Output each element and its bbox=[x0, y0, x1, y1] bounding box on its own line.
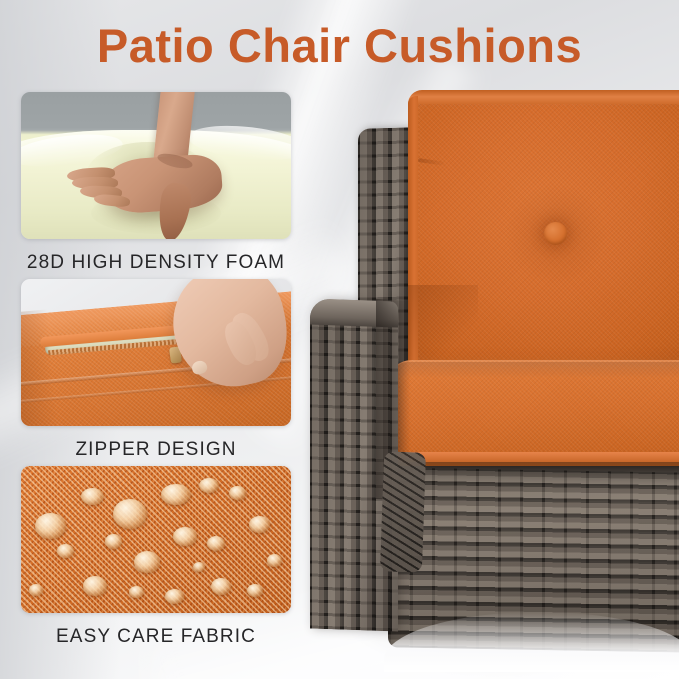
water-droplet bbox=[211, 578, 231, 595]
water-droplet bbox=[207, 536, 225, 551]
water-droplet bbox=[229, 486, 246, 500]
product-infographic: Patio Chair Cushions 28D HIGH DENSITY FO… bbox=[0, 0, 679, 679]
water-droplet bbox=[267, 554, 282, 567]
feature-panel-zipper-design: ZIPPER DESIGN bbox=[21, 279, 291, 461]
back-cushion-piping bbox=[408, 90, 679, 104]
feature-caption: ZIPPER DESIGN bbox=[21, 439, 291, 461]
water-droplet bbox=[35, 513, 66, 539]
wicker-corner-knot bbox=[380, 451, 426, 572]
water-droplet bbox=[161, 484, 191, 505]
water-droplet bbox=[105, 534, 122, 549]
water-droplet bbox=[134, 551, 160, 573]
water-droplet bbox=[193, 562, 205, 572]
feature-image-high-density-foam bbox=[21, 92, 291, 239]
water-droplet bbox=[173, 527, 197, 546]
cushion-shadow bbox=[408, 285, 478, 365]
water-droplet bbox=[57, 544, 74, 558]
water-droplet bbox=[129, 586, 144, 598]
water-droplet bbox=[81, 488, 104, 505]
feature-caption: 28D HIGH DENSITY FOAM bbox=[21, 252, 291, 274]
water-droplet bbox=[29, 584, 43, 596]
water-droplet bbox=[113, 499, 147, 529]
feature-caption: EASY CARE FABRIC bbox=[21, 626, 291, 648]
tufted-button bbox=[544, 222, 567, 245]
feature-image-easy-care-fabric bbox=[21, 466, 291, 613]
product-photo-chair bbox=[300, 0, 679, 679]
water-droplet bbox=[249, 516, 270, 533]
water-droplet bbox=[83, 576, 107, 596]
water-droplet bbox=[199, 478, 219, 493]
feature-image-zipper-design bbox=[21, 279, 291, 426]
cushion-crease bbox=[392, 362, 679, 378]
feature-panel-easy-care-fabric: EASY CARE FABRIC bbox=[21, 466, 291, 648]
feature-panel-high-density-foam: 28D HIGH DENSITY FOAM bbox=[21, 92, 291, 274]
water-droplet bbox=[247, 584, 263, 597]
water-droplet bbox=[165, 589, 184, 604]
